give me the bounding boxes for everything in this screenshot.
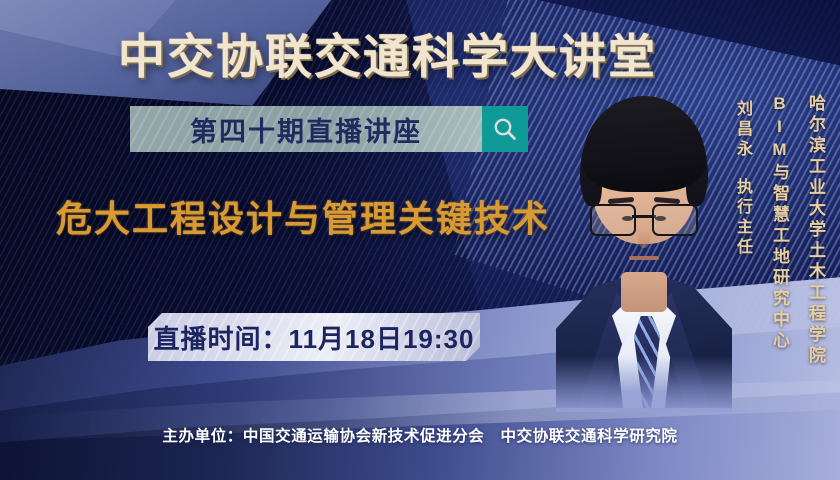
speaker-portrait [556,78,732,408]
live-lecture-poster: 中交协联交通科学大讲堂 第四十期直播讲座 危大工程设计与管理关键技术 直播时间：… [0,0,840,480]
session-label: 第四十期直播讲座 [190,110,422,149]
organizer-footer: 主办单位：中国交通运输协会新技术促进分会 中交协联交通科学研究院 [0,424,840,446]
speaker-org-line-2: BIM与智慧工地研究中心 [767,94,792,352]
speaker-org-line-1: 哈尔滨工业大学土木工程学院 [803,94,828,367]
portrait-bottom-fade [556,356,732,412]
session-banner: 第四十期直播讲座 [130,106,482,152]
portrait-lens-right [652,204,698,236]
portrait-lens-left [590,204,636,236]
portrait-mouth [629,256,659,260]
page-title: 中交协联交通科学大讲堂 [118,18,657,87]
portrait-hair-top [582,96,706,192]
lecture-title: 危大工程设计与管理关键技术 [56,190,550,242]
search-icon [492,116,518,142]
search-button[interactable] [482,106,528,152]
speaker-role: 执行主任 [730,178,754,258]
broadcast-time-text: 直播时间：11月18日19:30 [154,319,475,356]
broadcast-time-banner: 直播时间：11月18日19:30 [148,313,480,361]
portrait-neck [621,272,667,312]
speaker-name: 刘昌永 [730,100,754,160]
portrait-nose [638,230,650,248]
